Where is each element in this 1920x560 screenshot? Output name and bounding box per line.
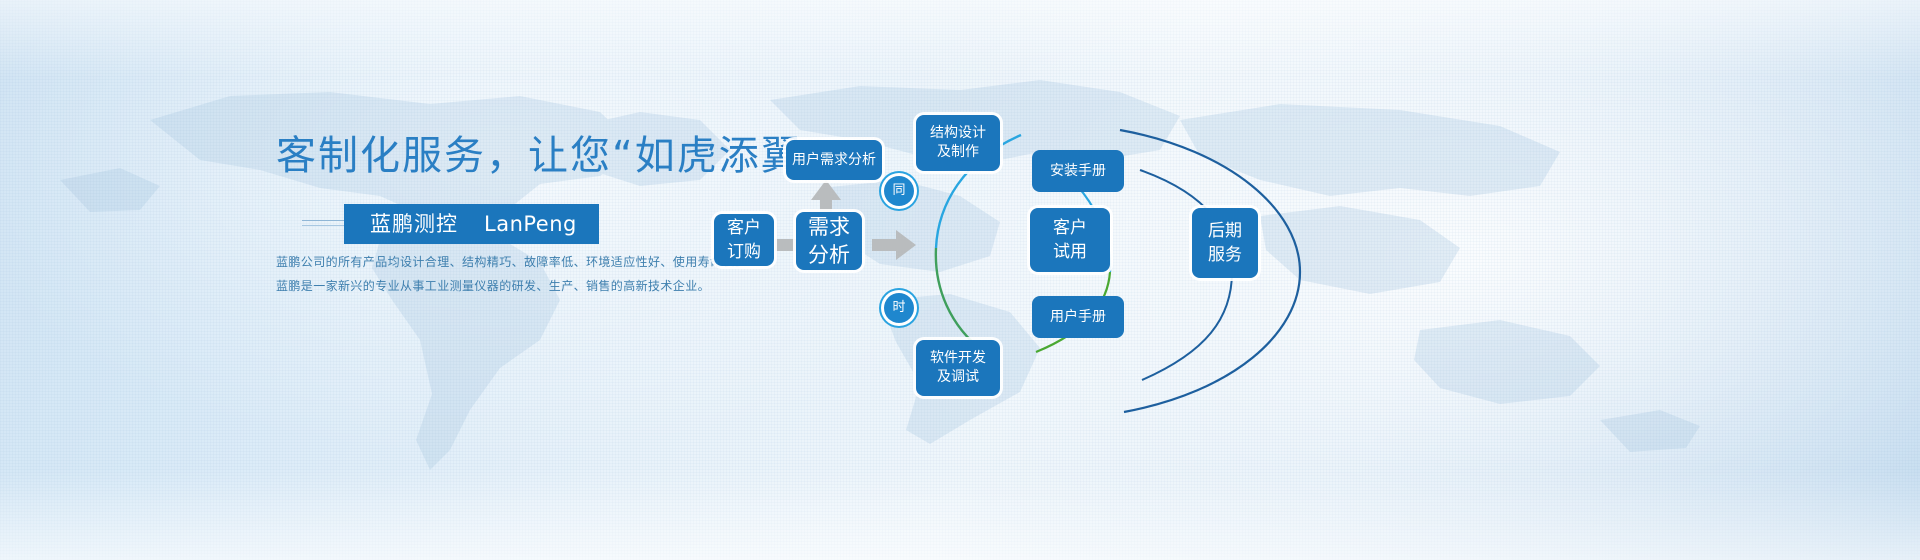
flow-badge-same: 同 — [884, 176, 914, 206]
customization-service-banner: 客制化服务，让您“如虎添翼” 蓝鹏测控 LanPeng 蓝鹏公司的所有产品均设计… — [0, 0, 1920, 560]
flow-block-arrows — [0, 0, 1920, 560]
flow-node-demand-analysis[interactable]: 需求 分析 — [796, 212, 862, 270]
flow-node-user-manual[interactable]: 用户手册 — [1032, 296, 1124, 338]
flow-node-customer-order[interactable]: 客户 订购 — [714, 214, 774, 266]
flow-node-after-service[interactable]: 后期 服务 — [1192, 208, 1258, 278]
flow-node-structure-design[interactable]: 结构设计 及制作 — [916, 115, 1000, 171]
flow-badge-time: 时 — [884, 293, 914, 323]
flow-node-install-manual[interactable]: 安装手册 — [1032, 150, 1124, 192]
flow-connector-curves — [0, 0, 1920, 560]
flow-node-user-demand-analysis[interactable]: 用户需求分析 — [786, 140, 882, 180]
flow-node-customer-trial[interactable]: 客户 试用 — [1030, 208, 1110, 272]
service-flow-diagram: 用户需求分析 客户 订购 需求 分析 结构设计 及制作 软件开发 及调试 安装手… — [0, 0, 1920, 560]
flow-node-software-development[interactable]: 软件开发 及调试 — [916, 340, 1000, 396]
